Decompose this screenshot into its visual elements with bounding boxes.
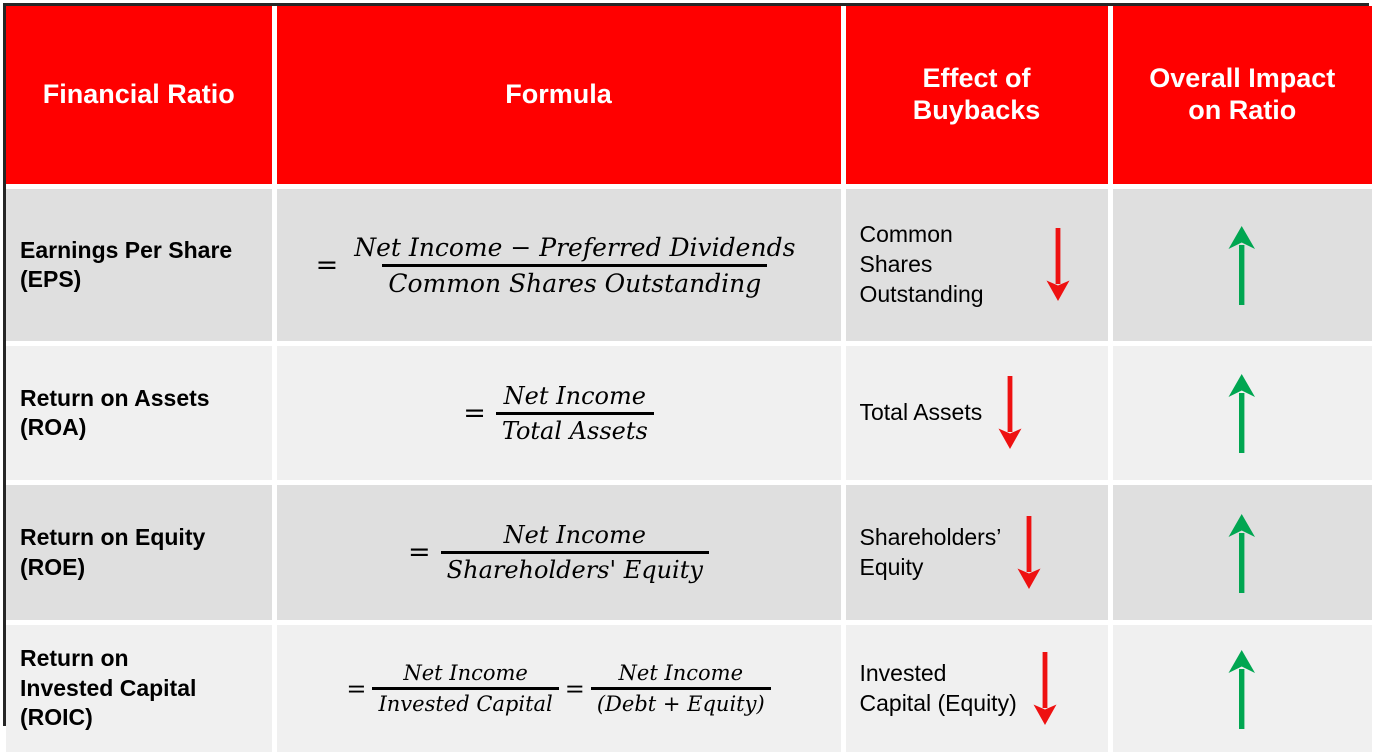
- header-line: Overall Impact: [1149, 63, 1335, 93]
- fraction-numerator: Net Income: [498, 521, 652, 551]
- formula-cell: = Net Income Total Assets: [274, 344, 843, 483]
- fraction: Net Income Invested Capital: [372, 661, 558, 716]
- up-arrow-icon: [1227, 513, 1257, 593]
- equals-sign: =: [408, 537, 431, 568]
- effect-line: Outstanding: [860, 281, 984, 307]
- impact-cell: [1110, 187, 1372, 344]
- financial-ratio-table: Financial Ratio Formula Effect of Buybac…: [6, 6, 1372, 752]
- header-line: Effect of: [923, 63, 1031, 93]
- financial-ratio-table-container: Financial Ratio Formula Effect of Buybac…: [3, 3, 1369, 726]
- header-line: on Ratio: [1188, 95, 1296, 125]
- ratio-name-cell: Return on Invested Capital (ROIC): [6, 623, 274, 752]
- fraction-denominator: Shareholders' Equity: [441, 551, 709, 584]
- table-row: Return on Invested Capital (ROIC) = Net …: [6, 623, 1372, 752]
- table-row: Return on Assets (ROA) = Net Income Tota…: [6, 344, 1372, 483]
- ratio-name-line: Return on Equity: [20, 524, 205, 550]
- formula-roic: = Net Income Invested Capital = Net Inco…: [277, 661, 841, 716]
- effect-line: Shareholders’: [860, 524, 1002, 550]
- ratio-name-line: Earnings Per Share: [20, 237, 232, 263]
- down-arrow-icon: [1016, 516, 1042, 590]
- formula-cell: = Net Income − Preferred Dividends Commo…: [274, 187, 843, 344]
- fraction: Net Income (Debt + Equity): [591, 661, 771, 716]
- effect-line: Equity: [860, 554, 924, 580]
- ratio-name-cell: Return on Equity (ROE): [6, 483, 274, 623]
- fraction-numerator: Net Income: [498, 382, 652, 412]
- overall-impact-roa: [1113, 373, 1373, 453]
- effect-of-buybacks-roe: Shareholders’ Equity: [846, 516, 1108, 590]
- fraction: Net Income − Preferred Dividends Common …: [348, 233, 801, 298]
- effect-cell: Shareholders’ Equity: [843, 483, 1110, 623]
- ratio-name-line: Invested Capital: [20, 675, 196, 701]
- impact-cell: [1110, 623, 1372, 752]
- fraction-numerator: Net Income − Preferred Dividends: [348, 233, 801, 264]
- header-line: Formula: [505, 79, 612, 109]
- impact-cell: [1110, 483, 1372, 623]
- formula-cell: = Net Income Invested Capital = Net Inco…: [274, 623, 843, 752]
- formula-roa: = Net Income Total Assets: [277, 382, 841, 445]
- effect-arrow-slot: [1036, 228, 1080, 302]
- formula-eps: = Net Income − Preferred Dividends Commo…: [277, 233, 841, 298]
- ratio-name-line: (ROIC): [20, 704, 93, 730]
- ratio-name-roe: Return on Equity (ROE): [6, 523, 272, 582]
- ratio-name-line: Return on: [20, 645, 129, 671]
- ratio-name-line: (ROE): [20, 554, 85, 580]
- effect-of-buybacks-eps: Common Shares Outstanding: [846, 220, 1108, 310]
- table-header: Financial Ratio Formula Effect of Buybac…: [6, 6, 1372, 187]
- effect-text: Shareholders’ Equity: [860, 523, 1002, 583]
- effect-arrow-slot: [988, 376, 1032, 450]
- effect-line: Common Shares: [860, 221, 953, 277]
- header-line: Buybacks: [913, 95, 1041, 125]
- equals-sign: =: [346, 675, 366, 703]
- ratio-name-cell: Return on Assets (ROA): [6, 344, 274, 483]
- effect-text: Common Shares Outstanding: [860, 220, 1030, 310]
- overall-impact-roe: [1113, 513, 1373, 593]
- fraction: Net Income Total Assets: [496, 382, 654, 445]
- ratio-name-line: (EPS): [20, 266, 81, 292]
- overall-impact-roic: [1113, 649, 1373, 729]
- fraction-denominator: Invested Capital: [372, 687, 558, 716]
- impact-cell: [1110, 344, 1372, 483]
- effect-arrow-slot: [1023, 652, 1067, 726]
- down-arrow-icon: [1032, 652, 1058, 726]
- effect-line: Capital (Equity): [860, 690, 1017, 716]
- fraction-denominator: Common Shares Outstanding: [382, 264, 767, 298]
- effect-text: Total Assets: [860, 398, 983, 428]
- fraction-numerator: Net Income: [613, 661, 749, 687]
- effect-cell: Common Shares Outstanding: [843, 187, 1110, 344]
- formula-cell: = Net Income Shareholders' Equity: [274, 483, 843, 623]
- effect-line: Invested: [860, 660, 947, 686]
- column-header-overall-impact-on-ratio: Overall Impact on Ratio: [1110, 6, 1372, 187]
- down-arrow-icon: [1045, 228, 1071, 302]
- up-arrow-icon: [1227, 649, 1257, 729]
- effect-line: Total Assets: [860, 399, 983, 425]
- effect-text: Invested Capital (Equity): [860, 659, 1017, 719]
- ratio-name-line: Return on Assets: [20, 385, 210, 411]
- fraction-numerator: Net Income: [397, 661, 533, 687]
- effect-cell: Invested Capital (Equity): [843, 623, 1110, 752]
- fraction: Net Income Shareholders' Equity: [441, 521, 709, 584]
- ratio-name-eps: Earnings Per Share (EPS): [6, 236, 272, 295]
- up-arrow-icon: [1227, 373, 1257, 453]
- column-header-formula: Formula: [274, 6, 843, 187]
- column-header-effect-of-buybacks: Effect of Buybacks: [843, 6, 1110, 187]
- effect-of-buybacks-roa: Total Assets: [846, 376, 1108, 450]
- down-arrow-icon: [997, 376, 1023, 450]
- equals-sign: =: [463, 398, 486, 429]
- up-arrow-icon: [1227, 225, 1257, 305]
- ratio-name-line: (ROA): [20, 414, 86, 440]
- table-row: Return on Equity (ROE) = Net Income Shar…: [6, 483, 1372, 623]
- fraction-denominator: Total Assets: [496, 412, 654, 445]
- effect-arrow-slot: [1007, 516, 1051, 590]
- column-header-financial-ratio: Financial Ratio: [6, 6, 274, 187]
- fraction-denominator: (Debt + Equity): [591, 687, 771, 716]
- header-line: Financial Ratio: [43, 79, 235, 109]
- effect-cell: Total Assets: [843, 344, 1110, 483]
- ratio-name-cell: Earnings Per Share (EPS): [6, 187, 274, 344]
- ratio-name-roa: Return on Assets (ROA): [6, 384, 272, 443]
- table-body: Earnings Per Share (EPS) = Net Income − …: [6, 187, 1372, 752]
- equals-sign: =: [316, 250, 339, 281]
- table-row: Earnings Per Share (EPS) = Net Income − …: [6, 187, 1372, 344]
- effect-of-buybacks-roic: Invested Capital (Equity): [846, 652, 1108, 726]
- formula-roe: = Net Income Shareholders' Equity: [277, 521, 841, 584]
- equals-sign: =: [565, 675, 585, 703]
- header-row: Financial Ratio Formula Effect of Buybac…: [6, 6, 1372, 187]
- ratio-name-roic: Return on Invested Capital (ROIC): [6, 644, 272, 732]
- overall-impact-eps: [1113, 225, 1373, 305]
